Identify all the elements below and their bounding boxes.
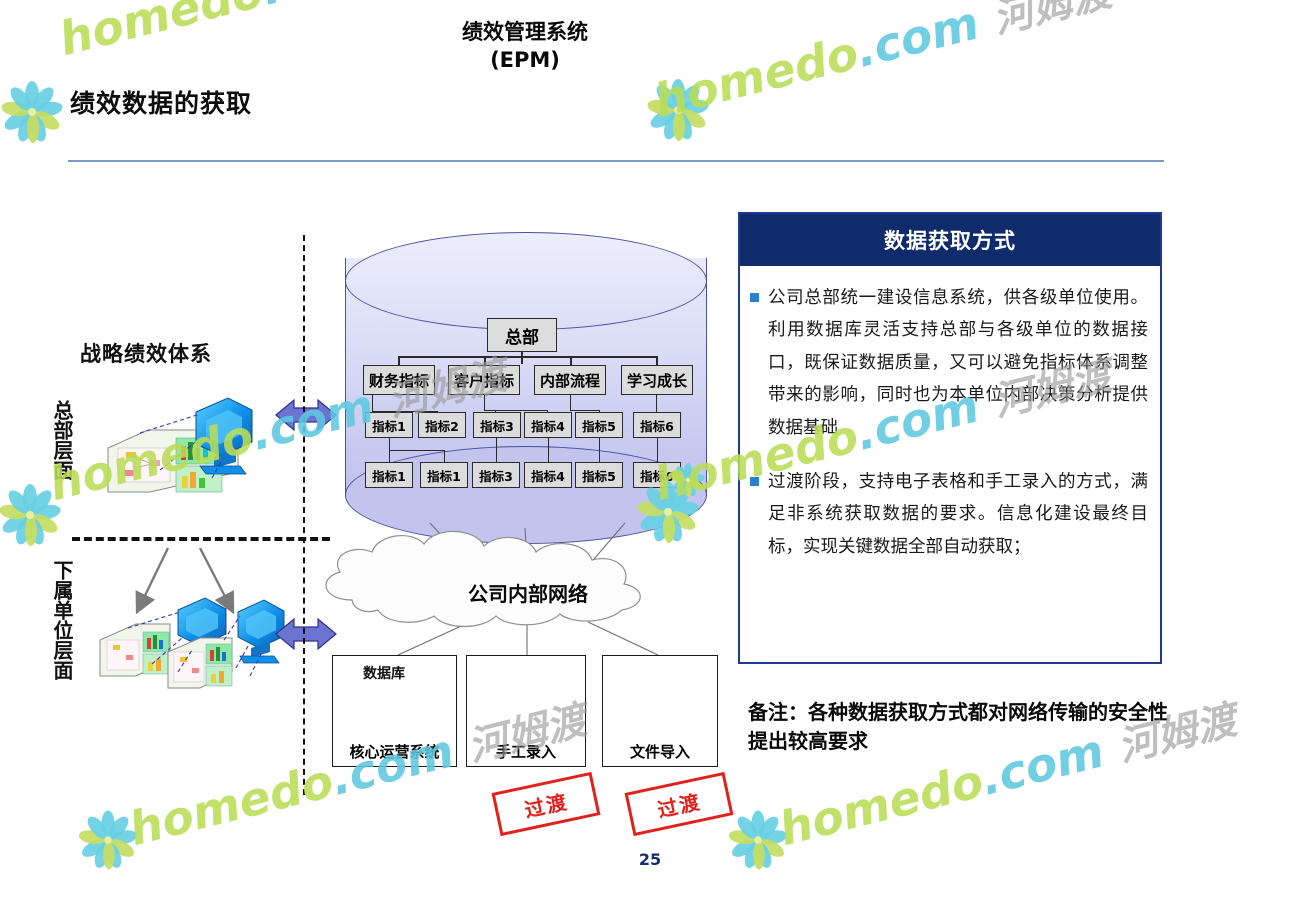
org-box-headquarters[interactable]: 总部 (487, 318, 557, 352)
petal-flower-logo-icon (0, 484, 62, 547)
panel-header: 数据获取方式 (740, 214, 1160, 266)
org-box-indicator[interactable]: 指标3 (473, 412, 521, 438)
source-label-file-import: 文件导入 (603, 741, 717, 762)
panel-bullet-text: 过渡阶段，支持电子表格和手工录入的方式，满足非系统获取数据的要求。信息化建设最终… (768, 466, 1148, 563)
org-connector (398, 356, 658, 358)
internal-network-label: 公司内部网络 (318, 578, 738, 607)
bullet-square-icon (750, 477, 759, 486)
org-connector (657, 438, 658, 462)
sub-dashboard-icon-1 (100, 624, 170, 676)
org-connector (570, 356, 572, 365)
org-connector (398, 356, 400, 365)
panel-bullet-text: 公司总部统一建设信息系统，供各级单位使用。利用数据库灵活支持总部与各级单位的数据… (768, 282, 1148, 444)
internal-network-cloud: 公司内部网络 (318, 553, 738, 633)
level-dashed-divider (72, 537, 330, 541)
page-title: 绩效数据的获取 (70, 84, 252, 120)
transition-stamp: 过渡 (625, 772, 734, 836)
double-arrow-icon-top (276, 400, 336, 430)
title-divider (68, 160, 1164, 162)
transition-stamp: 过渡 (492, 772, 601, 836)
watermark-latin: homedo (774, 753, 989, 856)
watermark-latin: homedo (54, 0, 269, 66)
org-box-indicator[interactable]: 指标1 (420, 462, 468, 488)
org-connector (496, 438, 497, 462)
org-box-indicator[interactable]: 指标6 (633, 412, 681, 438)
org-connector (548, 438, 549, 462)
org-box-indicator[interactable]: 指标5 (575, 412, 623, 438)
slide-canvas: 绩效数据的获取 战略绩效体系 总部层面 下属单位层面 (0, 0, 1300, 900)
panel-note: 备注：各种数据获取方式都对网络传输的安全性提出较高要求 (748, 698, 1168, 756)
org-box-indicator[interactable]: 指标6 (633, 462, 681, 488)
panel-bullet-item: 公司总部统一建设信息系统，供各级单位使用。利用数据库灵活支持总部与各级单位的数据… (750, 282, 1148, 444)
org-connector (656, 356, 658, 365)
hq-monitor-icon (196, 398, 252, 474)
petal-flower-logo-icon (646, 79, 709, 142)
org-box-category-finance[interactable]: 财务指标 (363, 365, 435, 395)
vertical-dashed-divider (303, 235, 305, 795)
data-acquisition-panel: 数据获取方式 公司总部统一建设信息系统，供各级单位使用。利用数据库灵活支持总部与… (738, 212, 1162, 664)
level-flow-arrows (138, 548, 232, 610)
org-connector (389, 450, 390, 462)
source-label-manual-entry: 手工录入 (467, 741, 585, 762)
epm-system-title: 绩效管理系统 (EPM) (345, 18, 705, 75)
sub-monitor-icon-1 (178, 598, 226, 661)
bullet-square-icon (750, 293, 759, 302)
org-connector (484, 395, 485, 411)
org-connector (372, 395, 373, 412)
strategy-system-heading: 战略绩效体系 (80, 338, 212, 368)
level-label-subsidiary: 下属单位层面 (52, 560, 72, 680)
org-box-category-learning[interactable]: 学习成长 (621, 365, 693, 395)
org-connector (444, 450, 445, 462)
sub-dashed-links (128, 612, 262, 676)
watermark-brand: homedo.com 河姆渡 (655, 72, 1123, 130)
source-box-file-import[interactable]: 文件导入 (602, 655, 718, 767)
database-label: 数据库 (363, 663, 405, 683)
org-box-indicator[interactable]: 指标1 (365, 412, 413, 438)
watermark-cn: 河姆渡 (988, 0, 1116, 43)
hq-dashboard-icon (108, 430, 238, 492)
sub-monitor-icon-2 (238, 600, 284, 663)
watermark-domain: .com (256, 0, 390, 16)
watermark-latin: homedo (44, 408, 259, 511)
sub-dashboard-icon-2 (180, 634, 246, 684)
org-box-indicator[interactable]: 指标4 (524, 462, 572, 488)
org-connector (599, 438, 600, 462)
panel-body: 公司总部统一建设信息系统，供各级单位使用。利用数据库灵活支持总部与各级单位的数据… (740, 266, 1160, 593)
org-box-indicator[interactable]: 指标1 (365, 462, 413, 488)
org-box-category-customer[interactable]: 客户指标 (448, 365, 520, 395)
org-connector (389, 438, 390, 450)
org-box-indicator[interactable]: 指标4 (524, 412, 572, 438)
page-number: 25 (0, 850, 1300, 869)
org-box-category-process[interactable]: 内部流程 (534, 365, 606, 395)
org-connector (484, 356, 486, 365)
panel-bullet-item: 过渡阶段，支持电子表格和手工录入的方式，满足非系统获取数据的要求。信息化建设最终… (750, 466, 1148, 563)
org-connector (521, 352, 523, 364)
source-box-manual-entry[interactable]: 手工录入 (466, 655, 586, 767)
org-box-indicator[interactable]: 指标2 (418, 412, 466, 438)
org-connector (570, 395, 571, 411)
org-box-indicator[interactable]: 指标3 (472, 462, 520, 488)
hq-dashed-links (140, 414, 222, 478)
watermark-latin: homedo (124, 753, 339, 856)
org-box-indicator[interactable]: 指标5 (575, 462, 623, 488)
petal-flower-logo-icon (0, 81, 63, 144)
sub-dashboard-icon-3 (168, 638, 232, 688)
org-connector (389, 450, 445, 451)
watermark-domain: .com (851, 0, 985, 78)
level-label-headquarters: 总部层面 (52, 400, 72, 480)
source-label-core-system: 核心运营系统 (333, 741, 456, 762)
